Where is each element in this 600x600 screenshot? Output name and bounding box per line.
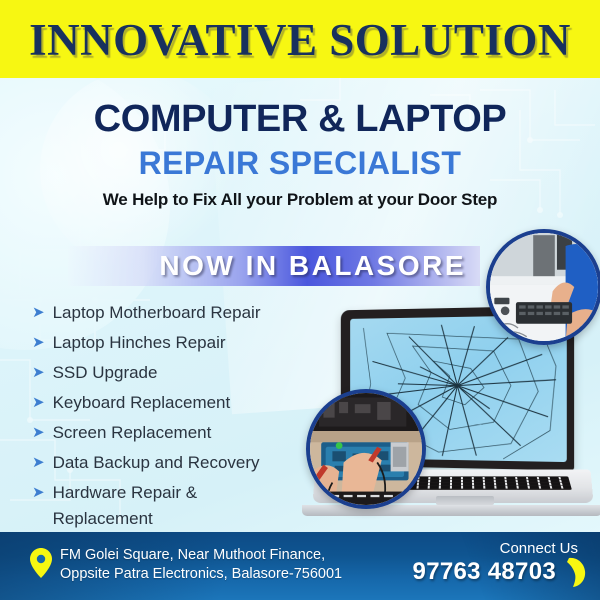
- laptop-front-edge: [302, 505, 600, 516]
- arrow-bullet-icon: ➤: [32, 330, 45, 356]
- connect-label: Connect Us: [418, 540, 578, 557]
- arrow-bullet-icon: ➤: [32, 450, 45, 476]
- services-list: ➤ Laptop Motherboard Repair ➤ Laptop Hin…: [32, 300, 322, 536]
- arrow-bullet-icon: ➤: [32, 300, 45, 326]
- list-item: ➤ Hardware Repair & Replacement: [32, 480, 322, 532]
- arrow-bullet-icon: ➤: [32, 480, 45, 506]
- phone-handset-icon[interactable]: [562, 556, 588, 588]
- company-name: INNOVATIVE SOLUTION: [0, 14, 600, 66]
- sub-heading: REPAIR SPECIALIST: [0, 145, 600, 182]
- service-label: Keyboard Replacement: [53, 390, 231, 416]
- service-label: Hardware Repair & Replacement: [53, 480, 198, 532]
- service-label: Data Backup and Recovery: [53, 450, 260, 476]
- promotional-flyer: INNOVATIVE SOLUTION COMPUTER & LAPTOP RE…: [0, 0, 600, 600]
- phone-number[interactable]: 97763 48703: [296, 558, 556, 586]
- technician-keyboard-image: [490, 233, 598, 341]
- list-item: ➤ Laptop Hinches Repair: [32, 330, 322, 356]
- service-label: Laptop Motherboard Repair: [53, 300, 261, 326]
- list-item: ➤ Screen Replacement: [32, 420, 322, 446]
- location-banner: NOW IN BALASORE: [68, 246, 480, 286]
- map-pin-icon: [30, 548, 52, 578]
- arrow-bullet-icon: ➤: [32, 420, 45, 446]
- service-label: SSD Upgrade: [53, 360, 158, 386]
- list-item: ➤ Data Backup and Recovery: [32, 450, 322, 476]
- location-banner-text: NOW IN BALASORE: [68, 246, 480, 286]
- list-item: ➤ Laptop Motherboard Repair: [32, 300, 322, 326]
- main-heading: COMPUTER & LAPTOP: [0, 98, 600, 141]
- service-label: Screen Replacement: [53, 420, 212, 446]
- tagline: We Help to Fix All your Problem at your …: [0, 190, 600, 210]
- list-item: ➤ SSD Upgrade: [32, 360, 322, 386]
- motherboard-repair-photo: [306, 389, 426, 509]
- motherboard-repair-image: [310, 393, 422, 505]
- technician-keyboard-photo: [486, 229, 600, 345]
- arrow-bullet-icon: ➤: [32, 390, 45, 416]
- service-label: Laptop Hinches Repair: [53, 330, 226, 356]
- laptop-trackpad: [436, 496, 494, 505]
- list-item: ➤ Keyboard Replacement: [32, 390, 322, 416]
- arrow-bullet-icon: ➤: [32, 360, 45, 386]
